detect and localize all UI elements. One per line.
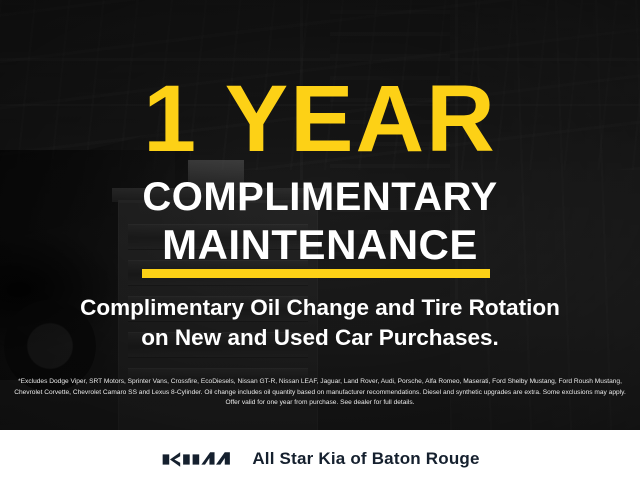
yellow-divider-bar [142, 269, 490, 278]
hero-content: 1 YEAR COMPLIMENTARY MAINTENANCE Complim… [0, 0, 640, 430]
headline-maintenance: MAINTENANCE [0, 224, 640, 266]
hero-section: 1 YEAR COMPLIMENTARY MAINTENANCE Complim… [0, 0, 640, 430]
kia-logo [160, 450, 234, 469]
disclaimer-text: *Excludes Dodge Viper, SRT Motors, Sprin… [14, 377, 626, 409]
tagline: Complimentary Oil Change and Tire Rotati… [28, 293, 612, 353]
headline-year: 1 YEAR [0, 72, 640, 167]
promotional-banner: 1 YEAR COMPLIMENTARY MAINTENANCE Complim… [0, 0, 640, 488]
dealer-name: All Star Kia of Baton Rouge [252, 449, 479, 469]
tagline-line-1: Complimentary Oil Change and Tire Rotati… [28, 293, 612, 323]
headline-complimentary: COMPLIMENTARY [0, 177, 640, 217]
footer-bar: All Star Kia of Baton Rouge [0, 430, 640, 488]
tagline-line-2: on New and Used Car Purchases. [28, 323, 612, 353]
